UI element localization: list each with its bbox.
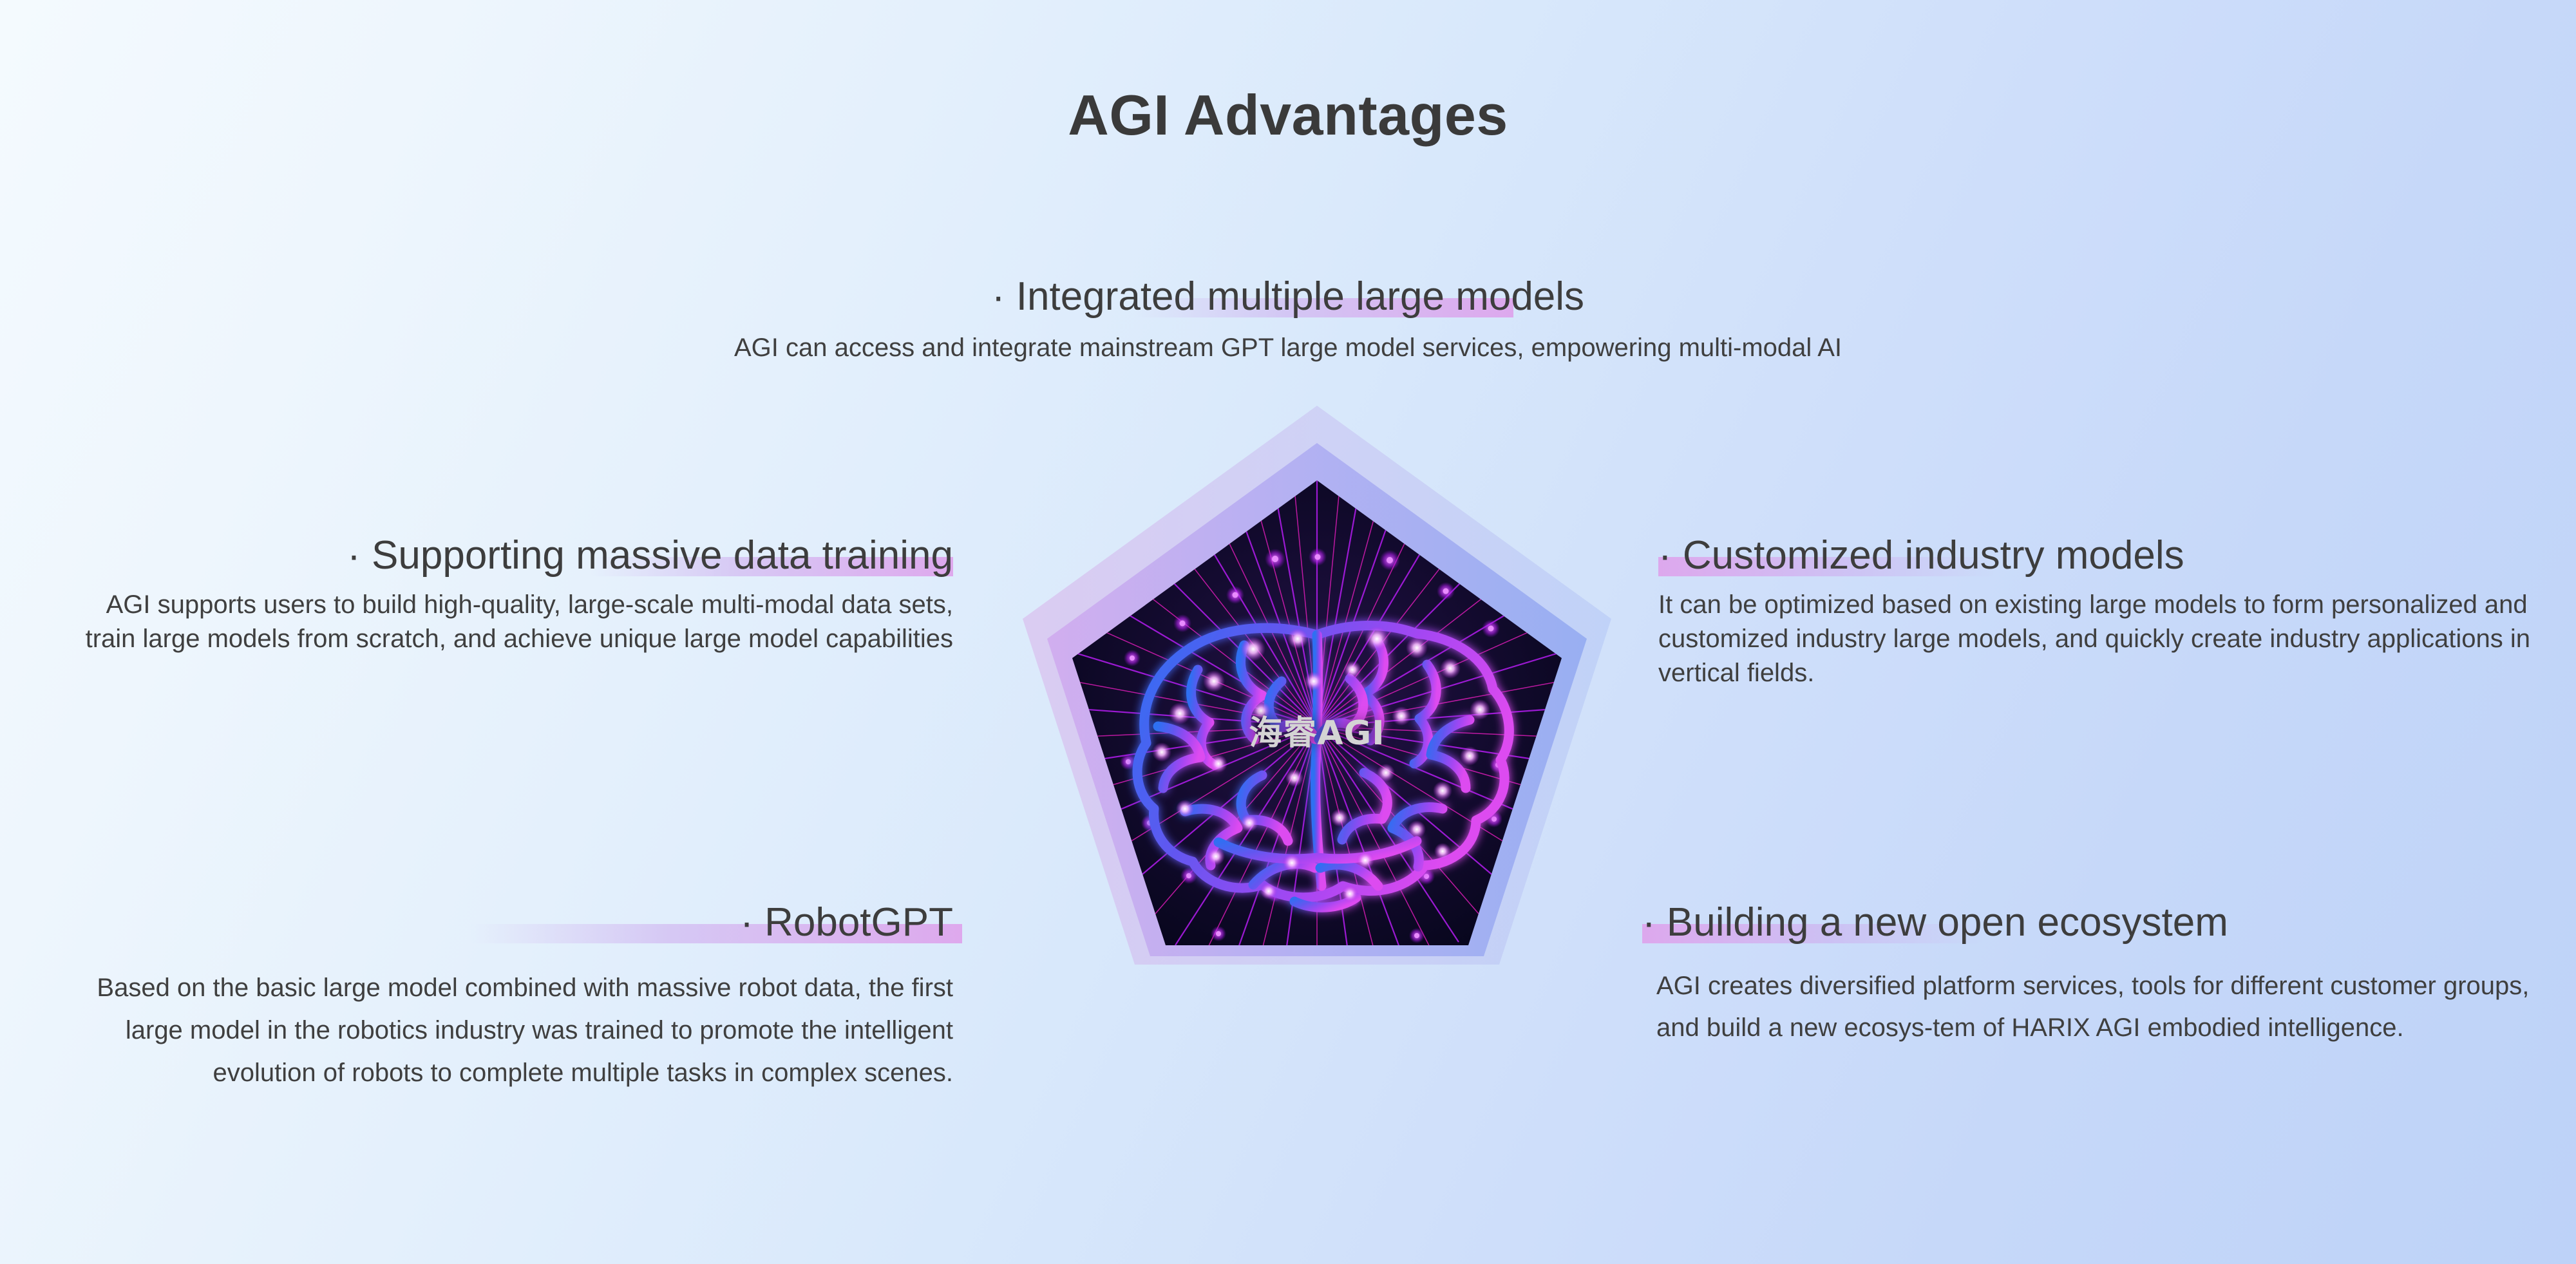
agi-pentagon-graphic: 海睿AGI xyxy=(992,379,1642,1093)
advantage-block-customized-models: · Customized industry models It can be o… xyxy=(1658,534,2534,690)
advantage-heading-robotgpt: · RobotGPT xyxy=(740,901,953,945)
advantage-heading-data-training: · Supporting massive data training xyxy=(347,534,953,578)
advantage-body-open-ecosystem: AGI creates diversified platform service… xyxy=(1642,965,2544,1049)
advantage-block-open-ecosystem: · Building a new open ecosystem AGI crea… xyxy=(1642,901,2544,1049)
advantage-block-integrated-models: · Integrated multiple large models AGI c… xyxy=(0,276,2576,364)
advantage-body-integrated-models: AGI can access and integrate mainstream … xyxy=(0,332,2576,364)
advantage-body-robotgpt: Based on the basic large model combined … xyxy=(58,967,953,1094)
advantage-block-data-training: · Supporting massive data training AGI s… xyxy=(58,534,953,656)
advantage-block-robotgpt: · RobotGPT Based on the basic large mode… xyxy=(58,901,953,1094)
advantage-heading-customized-models: · Customized industry models xyxy=(1658,534,2184,578)
brand-label-agi: 海睿AGI xyxy=(992,706,1642,754)
advantage-heading-integrated-models: · Integrated multiple large models xyxy=(992,276,1584,319)
advantage-body-customized-models: It can be optimized based on existing la… xyxy=(1658,588,2534,690)
advantage-heading-open-ecosystem: · Building a new open ecosystem xyxy=(1642,901,2228,945)
page-title: AGI Advantages xyxy=(0,82,2576,148)
advantage-body-data-training: AGI supports users to build high-quality… xyxy=(58,588,953,656)
